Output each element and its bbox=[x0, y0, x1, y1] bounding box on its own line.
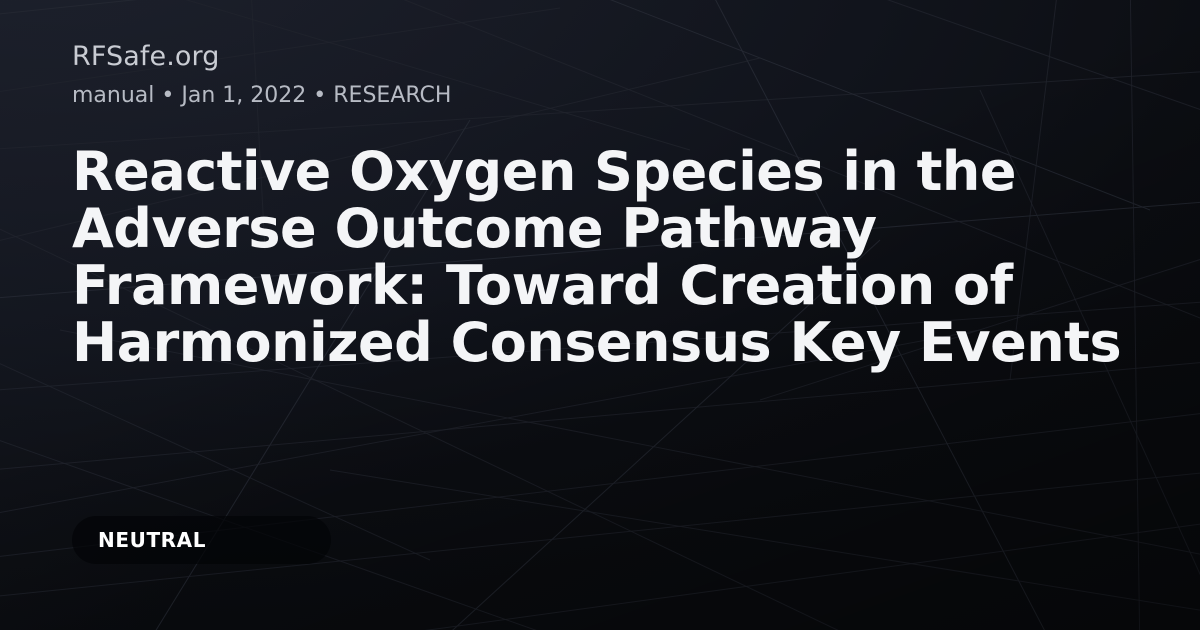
meta-line: manual•Jan 1, 2022•RESEARCH bbox=[72, 82, 451, 110]
badge-row: NEUTRAL bbox=[72, 516, 331, 564]
meta-source: manual bbox=[72, 83, 154, 108]
meta-separator-1: • bbox=[154, 82, 181, 110]
status-badge: NEUTRAL bbox=[72, 516, 331, 564]
og-card: RFSafe.org manual•Jan 1, 2022•RESEARCH R… bbox=[0, 0, 1200, 630]
meta-category: RESEARCH bbox=[333, 83, 451, 108]
meta-separator-2: • bbox=[306, 82, 333, 110]
page-title: Reactive Oxygen Species in the Adverse O… bbox=[72, 143, 1128, 371]
card-content: RFSafe.org manual•Jan 1, 2022•RESEARCH R… bbox=[72, 0, 1128, 630]
meta-date: Jan 1, 2022 bbox=[181, 83, 306, 108]
site-name: RFSafe.org bbox=[72, 41, 219, 73]
